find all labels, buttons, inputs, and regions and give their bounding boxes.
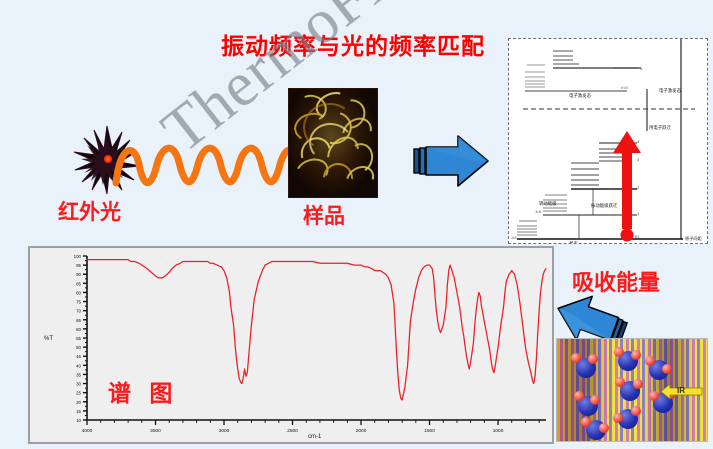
- ir-yellow-arrow-icon: IR: [661, 383, 703, 400]
- page-title: 振动频率与光的频率匹配: [188, 27, 518, 61]
- svg-text:55: 55: [76, 336, 81, 341]
- svg-text:1000: 1000: [493, 428, 504, 434]
- svg-text:25: 25: [76, 391, 81, 396]
- svg-text:3000: 3000: [219, 428, 230, 434]
- svg-text:40: 40: [76, 363, 81, 368]
- energy-level-diagram: 1 v'=0 电子激发态 电子激发态 用电子跃迁: [508, 38, 708, 244]
- svg-text:基态: 基态: [569, 240, 578, 244]
- svg-text:65: 65: [76, 318, 81, 323]
- svg-text:J=3: J=3: [511, 236, 517, 240]
- svg-text:80: 80: [76, 290, 81, 295]
- svg-text:转动能级: 转动能级: [539, 200, 557, 207]
- svg-text:3500: 3500: [150, 428, 161, 434]
- svg-text:10: 10: [76, 418, 81, 423]
- svg-text:45: 45: [76, 354, 81, 359]
- blue-3d-arrow-right-icon: [412, 133, 492, 189]
- spectrum-label: 谱 图: [108, 374, 178, 408]
- svg-text:原子间距: 原子间距: [685, 235, 702, 242]
- svg-text:v'=0: v'=0: [621, 86, 628, 90]
- svg-text:用电子跃迁: 用电子跃迁: [649, 124, 672, 131]
- svg-text:E1: E1: [635, 235, 639, 239]
- svg-text:%T: %T: [44, 336, 53, 342]
- svg-text:100: 100: [74, 254, 82, 259]
- sample-label: 样品: [303, 200, 345, 230]
- ir-spectrum-panel[interactable]: 100959085807570656055504540353025201510 …: [28, 246, 554, 444]
- svg-text:J=0: J=0: [535, 210, 541, 214]
- slide-canvas: 振动频率与光的频率匹配 红外光: [0, 0, 713, 449]
- svg-text:电子激发态: 电子激发态: [569, 92, 592, 99]
- svg-text:20: 20: [76, 400, 81, 405]
- svg-text:90: 90: [76, 272, 81, 277]
- svg-text:2500: 2500: [287, 428, 298, 434]
- svg-text:70: 70: [76, 309, 81, 314]
- infrared-light-label: 红外光: [58, 196, 121, 226]
- svg-text:4000: 4000: [82, 428, 93, 434]
- svg-text:30: 30: [76, 382, 81, 387]
- svg-text:35: 35: [76, 372, 81, 377]
- spectrum-plot: 100959085807570656055504540353025201510 …: [30, 248, 552, 442]
- svg-text:15: 15: [76, 409, 81, 414]
- svg-text:电子激发态: 电子激发态: [659, 87, 682, 94]
- sample-protein-image: [288, 88, 378, 198]
- svg-text:cm-1: cm-1: [308, 434, 322, 440]
- svg-text:85: 85: [76, 281, 81, 286]
- svg-text:60: 60: [76, 327, 81, 332]
- water-molecules-image: IR: [556, 338, 708, 442]
- sine-wave-icon: [112, 128, 302, 198]
- svg-text:振动能级跃迁: 振动能级跃迁: [591, 202, 618, 209]
- svg-text:1500: 1500: [424, 428, 435, 434]
- ir-tag-label: IR: [677, 386, 685, 395]
- svg-text:75: 75: [76, 300, 81, 305]
- svg-text:50: 50: [76, 345, 81, 350]
- svg-text:95: 95: [76, 263, 81, 268]
- svg-text:2000: 2000: [356, 428, 367, 434]
